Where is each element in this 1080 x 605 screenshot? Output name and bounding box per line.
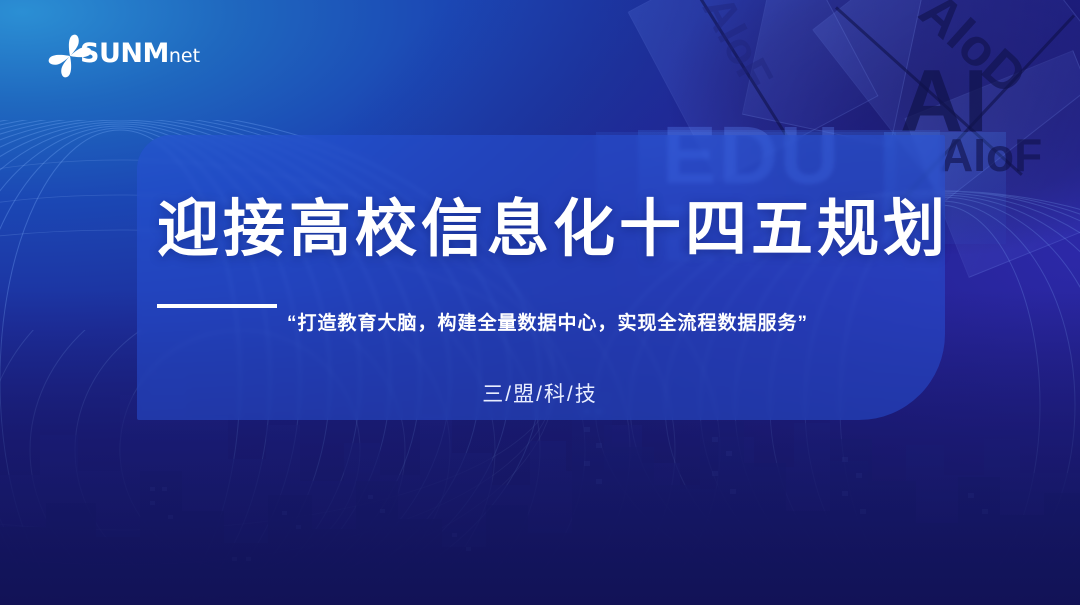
- brand-logo[interactable]: SUNMnet: [47, 32, 187, 80]
- title-divider-rule: [157, 304, 277, 308]
- brand-logo-text: SUNMnet: [80, 40, 200, 67]
- page-title: 迎接高校信息化十四五规划: [157, 196, 937, 264]
- title-slide: AIoF AIoD AI AIoF EDU EDU: [0, 0, 1080, 605]
- brand-logo-primary: SUNM: [80, 38, 169, 69]
- brand-logo-secondary: net: [169, 45, 200, 67]
- slide-content: SUNMnet 迎接高校信息化十四五规划 “打造教育大脑，构建全量数据中心，实现…: [0, 0, 1080, 605]
- page-subtitle: “打造教育大脑，构建全量数据中心，实现全流程数据服务”: [287, 308, 808, 335]
- presenter-byline: 三/盟/科/技: [0, 378, 1080, 408]
